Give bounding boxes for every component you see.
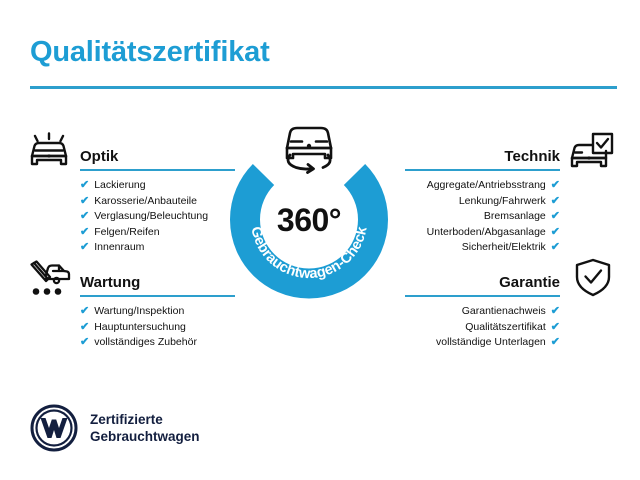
check-icon: ✔: [551, 196, 560, 207]
car-checkbox-icon: [568, 132, 614, 172]
section-garantie-list: ✔Garantienachweis ✔Qualitätszertifikat ✔…: [405, 304, 560, 351]
section-garantie-title: Garantie: [499, 274, 560, 291]
check-icon: ✔: [551, 242, 560, 253]
list-item-label: Hauptuntersuchung: [94, 320, 186, 336]
section-wartung-list: ✔Wartung/Inspektion ✔Hauptuntersuchung ✔…: [80, 304, 235, 351]
list-item: ✔Sicherheit/Elektrik: [405, 240, 560, 256]
vw-logo-icon: [30, 404, 78, 452]
list-item: ✔Unterboden/Abgasanlage: [405, 225, 560, 241]
shield-check-icon: [570, 258, 616, 298]
section-technik-divider: [405, 169, 560, 171]
list-item-label: Wartung/Inspektion: [94, 304, 184, 320]
list-item: ✔Lenkung/Fahrwerk: [405, 194, 560, 210]
list-item: ✔vollständiges Zubehör: [80, 335, 235, 351]
check-icon: ✔: [80, 180, 89, 191]
page-title: Qualitätszertifikat: [30, 36, 270, 69]
badge-center-label: 360°: [229, 202, 389, 239]
section-wartung: Wartung ✔Wartung/Inspektion ✔Hauptunters…: [80, 267, 235, 351]
list-item: ✔Wartung/Inspektion: [80, 304, 235, 320]
list-item-label: Lackierung: [94, 178, 145, 194]
list-item-label: Bremsanlage: [484, 209, 546, 225]
list-item-label: Felgen/Reifen: [94, 225, 159, 241]
check-icon: ✔: [80, 322, 89, 333]
section-garantie-divider: [405, 295, 560, 297]
check-icon: ✔: [80, 211, 89, 222]
car-shine-icon: [26, 132, 72, 172]
list-item-label: Aggregate/Antriebsstrang: [427, 178, 546, 194]
list-item-label: Unterboden/Abgasanlage: [427, 225, 546, 241]
list-item: ✔Felgen/Reifen: [80, 225, 235, 241]
section-garantie: Garantie ✔Garantienachweis ✔Qualitätszer…: [405, 267, 560, 351]
section-garantie-head: Garantie: [405, 267, 560, 297]
section-wartung-title: Wartung: [80, 274, 140, 291]
list-item-label: Verglasung/Beleuchtung: [94, 209, 208, 225]
check-icon: ✔: [80, 242, 89, 253]
check-icon: ✔: [551, 211, 560, 222]
list-item-label: Sicherheit/Elektrik: [462, 240, 546, 256]
list-item-label: vollständiges Zubehör: [94, 335, 197, 351]
list-item: ✔Verglasung/Beleuchtung: [80, 209, 235, 225]
car-rotate-icon: [278, 122, 340, 174]
list-item: ✔Aggregate/Antriebsstrang: [405, 178, 560, 194]
list-item-label: Karosserie/Anbauteile: [94, 194, 197, 210]
list-item: ✔Karosserie/Anbauteile: [80, 194, 235, 210]
vw-footer-line2: Gebrauchtwagen: [90, 428, 200, 445]
list-item-label: vollständige Unterlagen: [436, 335, 546, 351]
check-icon: ✔: [551, 227, 560, 238]
section-technik-title: Technik: [504, 148, 560, 165]
list-item: ✔Hauptuntersuchung: [80, 320, 235, 336]
list-item-label: Garantienachweis: [462, 304, 546, 320]
list-item-label: Innenraum: [94, 240, 144, 256]
vw-footer: Zertifizierte Gebrauchtwagen: [30, 404, 200, 452]
car-service-pen-icon: [26, 258, 72, 298]
check-icon: ✔: [80, 306, 89, 317]
section-technik-head: Technik: [405, 141, 560, 171]
check-icon: ✔: [551, 337, 560, 348]
check-icon: ✔: [80, 227, 89, 238]
list-item: ✔Garantienachweis: [405, 304, 560, 320]
list-item-label: Qualitätszertifikat: [465, 320, 546, 336]
section-optik-title: Optik: [80, 148, 118, 165]
section-optik-head: Optik: [80, 141, 235, 171]
badge-360-gebrauchtwagen-check: Gebrauchtwagen-Check 360°: [229, 140, 389, 300]
list-item: ✔Lackierung: [80, 178, 235, 194]
section-technik: Technik ✔Aggregate/Antriebsstrang ✔Lenku…: [405, 141, 560, 256]
check-icon: ✔: [551, 306, 560, 317]
title-divider: [30, 86, 617, 89]
section-wartung-divider: [80, 295, 235, 297]
list-item: ✔Qualitätszertifikat: [405, 320, 560, 336]
check-icon: ✔: [80, 196, 89, 207]
certificate-page: Qualitätszertifikat Optik ✔Lackierung: [0, 0, 640, 480]
list-item-label: Lenkung/Fahrwerk: [459, 194, 546, 210]
vw-footer-text: Zertifizierte Gebrauchtwagen: [90, 411, 200, 445]
vw-footer-line1: Zertifizierte: [90, 411, 200, 428]
check-icon: ✔: [551, 322, 560, 333]
list-item: ✔Innenraum: [80, 240, 235, 256]
section-optik-list: ✔Lackierung ✔Karosserie/Anbauteile ✔Verg…: [80, 178, 235, 256]
check-icon: ✔: [551, 180, 560, 191]
section-wartung-head: Wartung: [80, 267, 235, 297]
section-optik: Optik ✔Lackierung ✔Karosserie/Anbauteile…: [80, 141, 235, 256]
list-item: ✔Bremsanlage: [405, 209, 560, 225]
list-item: ✔vollständige Unterlagen: [405, 335, 560, 351]
check-icon: ✔: [80, 337, 89, 348]
section-optik-divider: [80, 169, 235, 171]
section-technik-list: ✔Aggregate/Antriebsstrang ✔Lenkung/Fahrw…: [405, 178, 560, 256]
